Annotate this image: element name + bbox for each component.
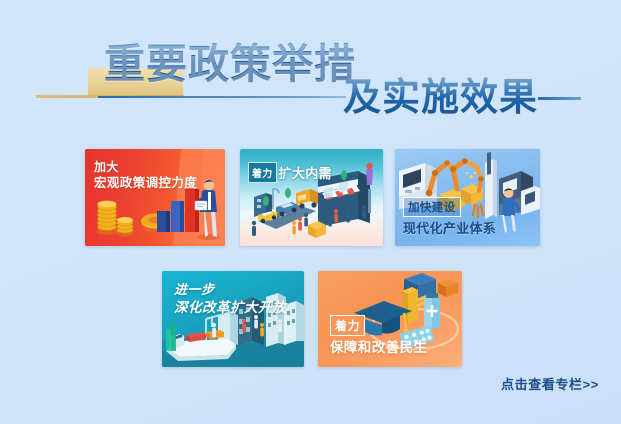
poster-canvas: 重要政策举措 及实施效果	[0, 0, 621, 424]
card-domestic-demand-caption: 着力 扩大内需	[248, 162, 332, 183]
card-reform-opening-caption-line-1: 进一步	[174, 282, 286, 297]
card-macro-policy-caption-line-2: 宏观政策调控力度	[94, 176, 197, 191]
page-title: 重要政策举措 及实施效果	[0, 0, 621, 140]
title-blue-rule	[98, 96, 346, 98]
card-macro-policy-caption-line-1: 加大	[94, 160, 197, 174]
card-macro-policy[interactable]: 加大 宏观政策调控力度	[85, 149, 225, 246]
card-industrial-system-caption: 加快建设 现代化产业体系	[403, 197, 496, 236]
card-domestic-demand[interactable]: 着力 扩大内需	[240, 149, 383, 246]
card-reform-opening-caption: 进一步 深化改革扩大开放	[174, 282, 286, 316]
page-title-line-2: 及实施效果	[343, 76, 538, 120]
card-domestic-demand-caption-main: 扩大内需	[279, 163, 332, 182]
card-people-wellbeing-caption: 着力 保障和改善民生	[330, 315, 427, 356]
card-industrial-system[interactable]: 加快建设 现代化产业体系	[395, 149, 540, 246]
card-domestic-demand-tag: 着力	[248, 162, 277, 183]
card-people-wellbeing[interactable]: 着力 保障和改善民生	[318, 271, 462, 367]
card-people-wellbeing-caption-line-2: 保障和改善民生	[330, 340, 427, 356]
card-reform-opening[interactable]: 进一步 深化改革扩大开放	[162, 271, 304, 367]
page-title-line-1: 重要政策举措	[104, 41, 356, 87]
card-people-wellbeing-tag: 着力	[330, 315, 365, 336]
card-macro-policy-caption: 加大 宏观政策调控力度	[94, 160, 197, 191]
card-reform-opening-caption-line-2: 深化改革扩大开放	[174, 300, 286, 316]
view-special-column-link[interactable]: 点击查看专栏>>	[501, 374, 599, 393]
card-industrial-system-caption-line-2: 现代化产业体系	[403, 221, 496, 236]
title-end-dash	[538, 97, 581, 100]
card-industrial-system-tag: 加快建设	[403, 197, 461, 217]
